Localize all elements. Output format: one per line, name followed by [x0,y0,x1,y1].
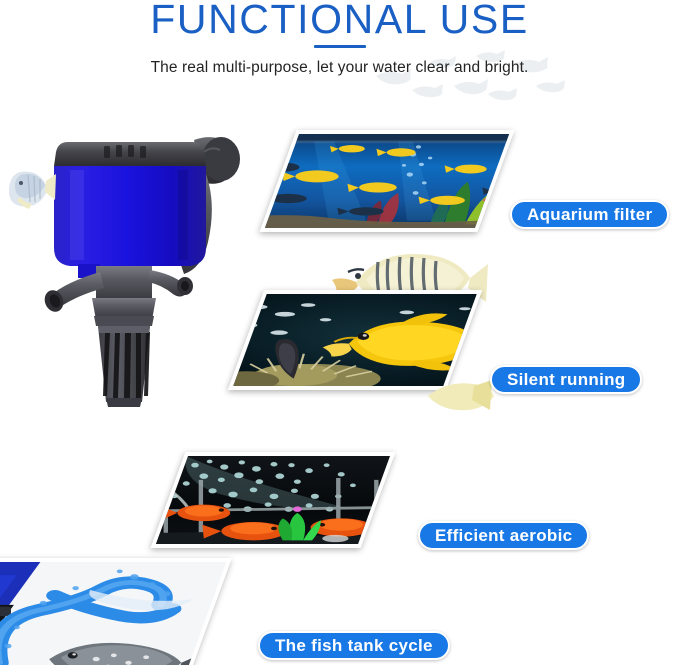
feature-photo-fish-tank-cycle [0,558,210,665]
page-title: FUNCTIONAL USE [0,0,679,42]
page-subtitle: The real multi-purpose, let your water c… [0,59,679,77]
pump-flow-valve [148,270,193,297]
feature-photo-efficient-aerobic [168,452,378,548]
product-image-pump [8,112,258,412]
badge-fish-tank-cycle[interactable]: The fish tank cycle [258,631,450,660]
feature-photo-silent-running [246,290,464,390]
badge-efficient-aerobic[interactable]: Efficient aerobic [418,521,589,550]
pump-neck [96,266,152,302]
badge-silent-running[interactable]: Silent running [490,365,642,394]
badge-aquarium-filter[interactable]: Aquarium filter [510,200,669,229]
title-divider [314,45,366,48]
feature-photo-aquarium-filter [278,130,496,232]
header: FUNCTIONAL USE The real multi-purpose, l… [0,0,679,110]
pump-strainer [98,326,150,407]
infographic-page: FUNCTIONAL USE The real multi-purpose, l… [0,0,679,665]
